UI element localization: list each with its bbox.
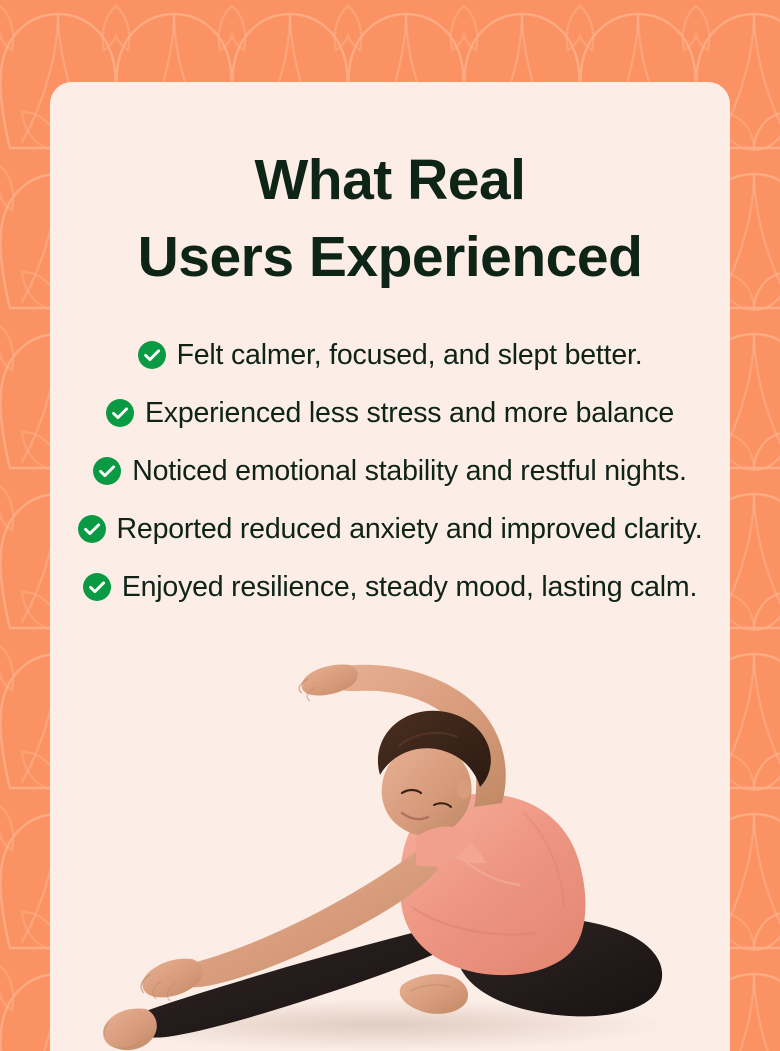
page-title: What Real Users Experienced bbox=[50, 142, 730, 296]
title-line-1: What Real bbox=[50, 142, 730, 219]
title-line-2: Users Experienced bbox=[50, 219, 730, 296]
check-circle-icon bbox=[106, 399, 134, 427]
check-circle-icon bbox=[138, 341, 166, 369]
content-card: What Real Users Experienced Felt calmer,… bbox=[50, 82, 730, 1051]
check-circle-icon bbox=[78, 515, 106, 543]
poster-root: What Real Users Experienced Felt calmer,… bbox=[0, 0, 780, 1051]
benefits-list: Felt calmer, focused, and slept better. … bbox=[50, 326, 730, 616]
list-item-label: Enjoyed resilience, steady mood, lasting… bbox=[122, 573, 697, 602]
list-item: Noticed emotional stability and restful … bbox=[93, 442, 687, 500]
list-item-label: Reported reduced anxiety and improved cl… bbox=[117, 515, 703, 544]
list-item-label: Noticed emotional stability and restful … bbox=[132, 457, 687, 486]
list-item: Experienced less stress and more balance bbox=[106, 384, 674, 442]
yoga-photo bbox=[50, 607, 730, 1051]
list-item-label: Felt calmer, focused, and slept better. bbox=[177, 341, 643, 370]
check-circle-icon bbox=[83, 573, 111, 601]
list-item: Felt calmer, focused, and slept better. bbox=[138, 326, 643, 384]
list-item: Reported reduced anxiety and improved cl… bbox=[78, 500, 703, 558]
check-circle-icon bbox=[93, 457, 121, 485]
list-item-label: Experienced less stress and more balance bbox=[145, 399, 674, 428]
